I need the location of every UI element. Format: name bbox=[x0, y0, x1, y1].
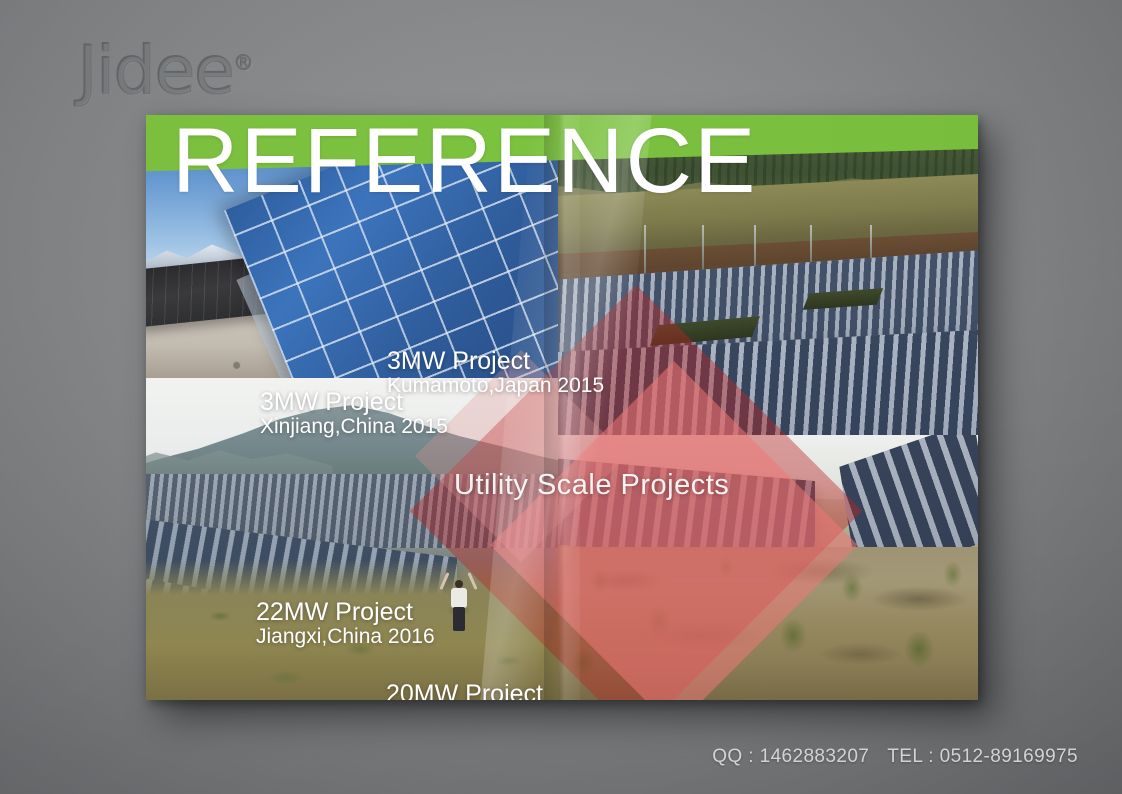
person-figure bbox=[442, 570, 476, 636]
person-torso bbox=[451, 588, 467, 608]
brand-logo-text: Jidee bbox=[78, 32, 234, 109]
page-title: REFERENCE bbox=[172, 115, 757, 207]
project-capacity: 22MW Project bbox=[256, 599, 435, 626]
brand-logo: Jidee® bbox=[78, 38, 253, 104]
caption-shanxi: 20MW Project Shanxi,China 2016 bbox=[386, 681, 563, 700]
project-capacity: 20MW Project bbox=[386, 681, 563, 700]
project-location: Xinjiang,China 2015 bbox=[260, 416, 448, 439]
weeds-foreground bbox=[558, 530, 978, 700]
project-location: Kumamoto,Japan 2015 bbox=[387, 375, 604, 398]
registered-trademark-icon: ® bbox=[234, 51, 253, 75]
brochure-spread: REFERENCE 3MW Project Xinjiang,China 201… bbox=[146, 115, 978, 700]
pole-icon bbox=[702, 225, 704, 273]
caption-jiangxi: 22MW Project Jiangxi,China 2016 bbox=[256, 599, 435, 649]
project-location: Jiangxi,China 2016 bbox=[256, 626, 435, 649]
center-tagline: Utility Scale Projects bbox=[454, 469, 729, 502]
tel-label: TEL : 0512-89169975 bbox=[887, 746, 1078, 767]
person-legs bbox=[453, 607, 465, 631]
contact-info: QQ : 1462883207TEL : 0512-89169975 bbox=[712, 746, 1078, 768]
qq-label: QQ : 1462883207 bbox=[712, 746, 869, 767]
person-head bbox=[455, 580, 463, 588]
caption-kumamoto: 3MW Project Kumamoto,Japan 2015 bbox=[387, 348, 604, 398]
project-capacity: 3MW Project bbox=[387, 348, 604, 375]
